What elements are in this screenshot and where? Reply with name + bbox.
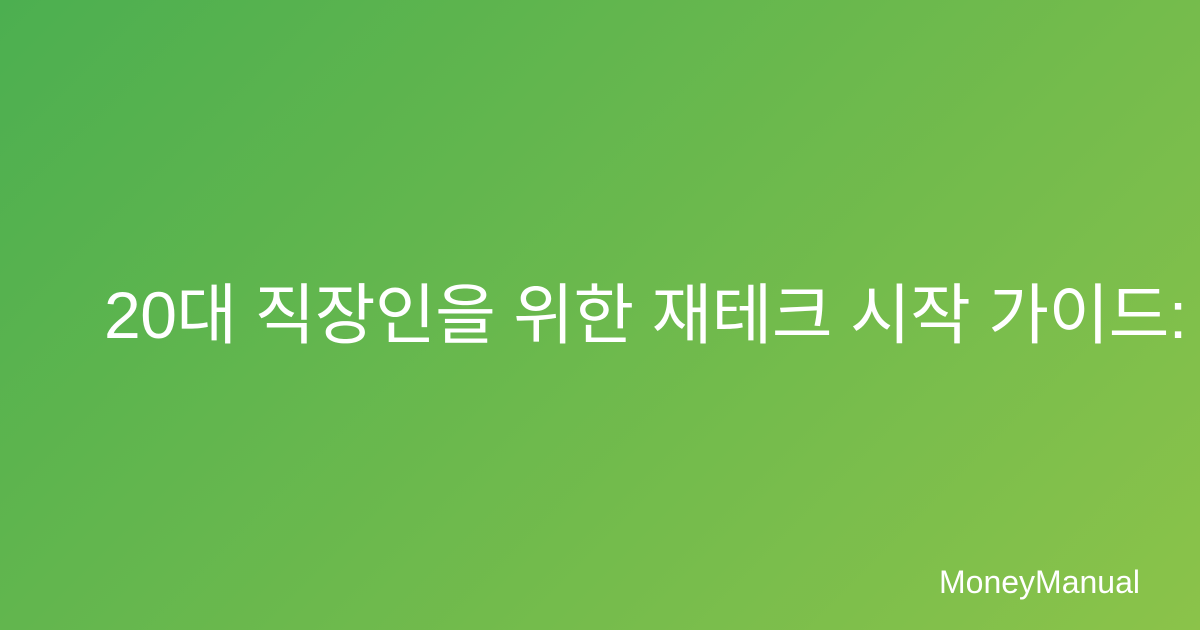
title-block: 20대 직장인을 위한 재테크 시작 가이드:: [104, 0, 1140, 630]
page-title: 20대 직장인을 위한 재테크 시작 가이드:: [104, 273, 1187, 357]
og-card: 20대 직장인을 위한 재테크 시작 가이드: MoneyManual: [0, 0, 1200, 630]
brand-block: MoneyManual: [939, 566, 1140, 598]
brand-wordmark: MoneyManual: [939, 566, 1140, 598]
